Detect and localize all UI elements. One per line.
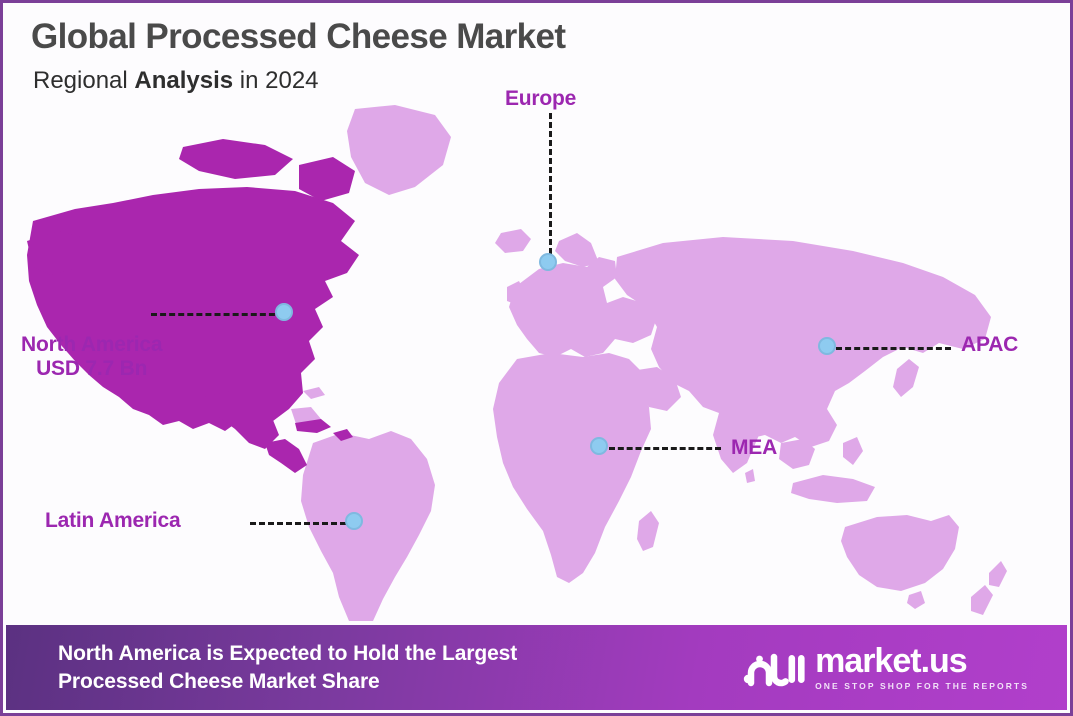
connector-latin-america (250, 522, 355, 525)
region-asia (615, 237, 991, 447)
region-baffin (299, 157, 355, 201)
brand-logo-text: market.us ONE STOP SHOP FOR THE REPORTS (815, 644, 1029, 691)
region-label-mea: MEA (731, 436, 777, 460)
region-new-zealand (989, 561, 1007, 587)
connector-mea (609, 447, 721, 450)
connector-north-america (151, 313, 284, 316)
map-highlight-regions (27, 139, 359, 473)
region-philippines (843, 437, 863, 465)
infographic-frame: Global Processed Cheese Market Regional … (0, 0, 1073, 716)
region-south-america (301, 431, 435, 621)
brand-name: market.us (815, 644, 1029, 678)
region-madagascar (637, 511, 659, 551)
world-map-svg (3, 91, 1070, 621)
brand-tagline: ONE STOP SHOP FOR THE REPORTS (815, 681, 1029, 691)
map-base-regions (291, 105, 1007, 621)
world-map (3, 91, 1070, 621)
region-label-north-america-value: USD 7.7 Bn (21, 357, 162, 381)
marker-north-america[interactable] (275, 303, 293, 321)
region-sri-lanka (745, 469, 755, 483)
market-us-logo-icon (743, 643, 805, 693)
region-greenland (347, 105, 451, 195)
subtitle-pre: Regional (33, 67, 134, 94)
subtitle-post: in 2024 (233, 67, 318, 94)
region-indonesia (791, 475, 875, 503)
marker-latin-america[interactable] (345, 512, 363, 530)
region-iceland (495, 229, 531, 253)
marker-europe[interactable] (539, 253, 557, 271)
region-caribbean-islands (303, 387, 325, 399)
marker-apac[interactable] (818, 337, 836, 355)
region-label-north-america-name: North America (21, 333, 162, 356)
connector-europe (549, 113, 552, 263)
region-label-latin-america: Latin America (45, 509, 181, 533)
region-label-apac: APAC (961, 333, 1018, 357)
subtitle-bold: Analysis (134, 67, 233, 94)
region-label-north-america: North America USD 7.7 Bn (21, 333, 162, 381)
footer-banner: North America is Expected to Hold the La… (6, 625, 1067, 710)
region-japan (893, 359, 919, 397)
region-australia (841, 515, 959, 591)
connector-apac (836, 347, 951, 350)
footer-headline: North America is Expected to Hold the La… (58, 640, 517, 696)
region-label-europe: Europe (505, 87, 576, 111)
brand-logo[interactable]: market.us ONE STOP SHOP FOR THE REPORTS (743, 643, 1029, 693)
region-africa (493, 353, 651, 583)
region-scandinavia (555, 233, 599, 267)
marker-mea[interactable] (590, 437, 608, 455)
region-new-zealand-south (971, 585, 993, 615)
region-arctic-islands (179, 139, 293, 179)
page-title: Global Processed Cheese Market (31, 17, 565, 57)
region-tasmania (907, 591, 925, 609)
footer-headline-line1: North America is Expected to Hold the La… (58, 640, 517, 668)
region-central-america (265, 439, 307, 473)
footer-headline-line2: Processed Cheese Market Share (58, 668, 517, 696)
